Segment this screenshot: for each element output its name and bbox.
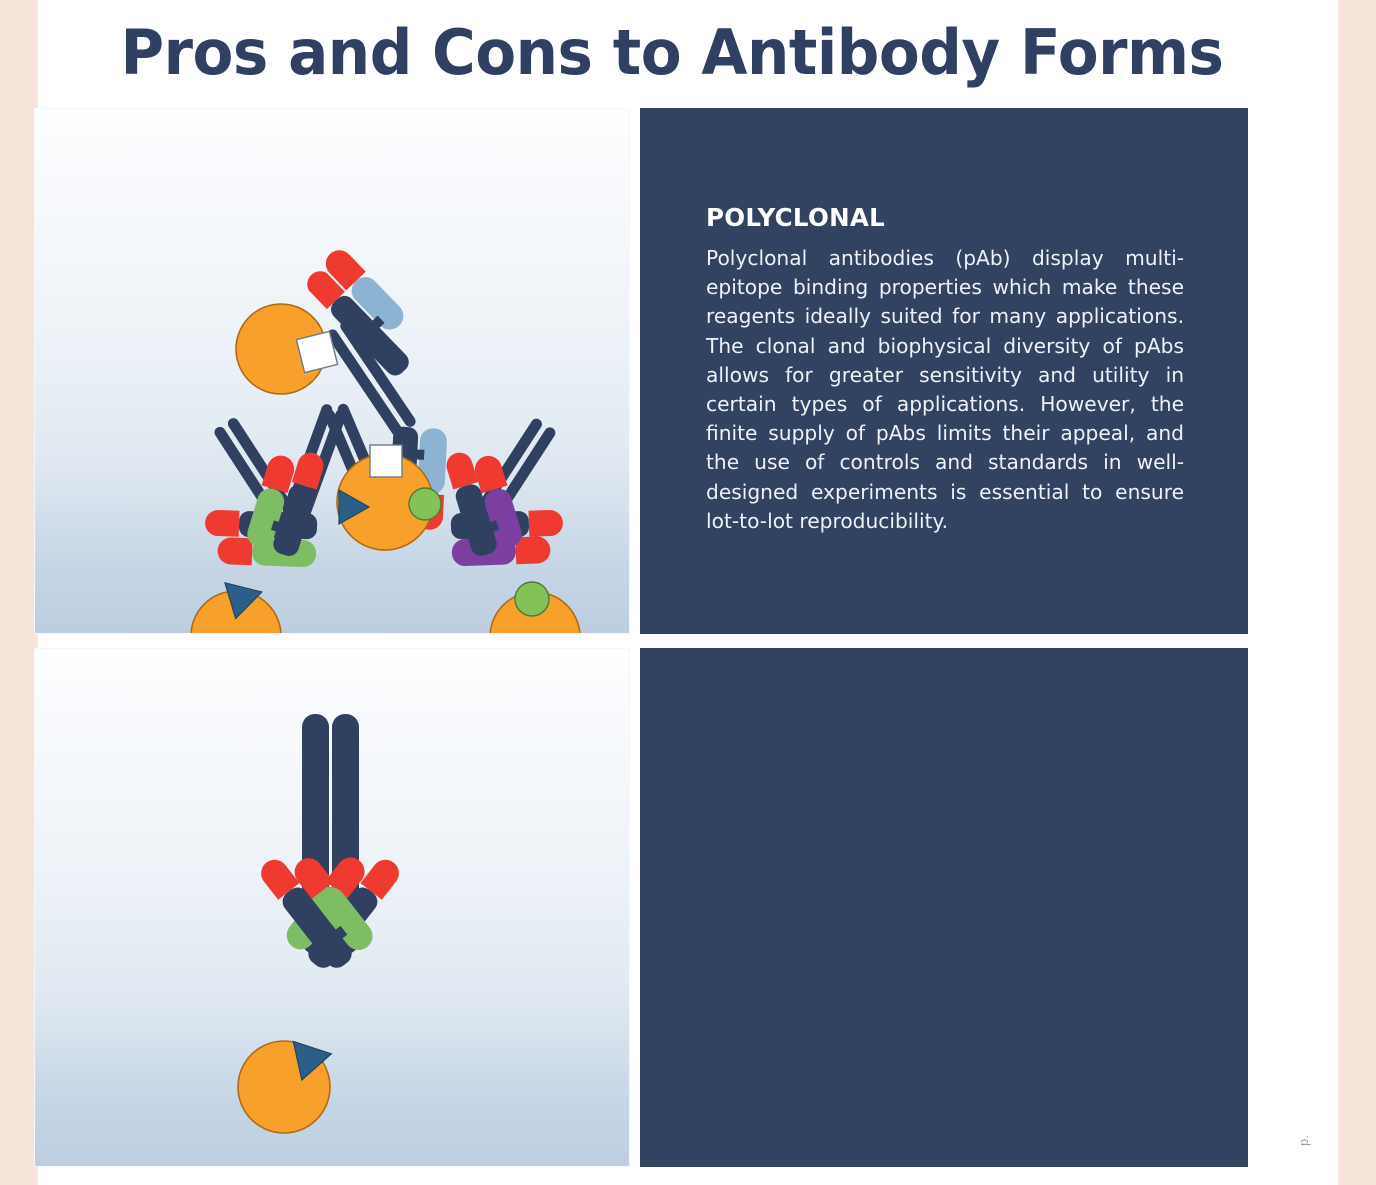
epitope-green-circle xyxy=(515,582,549,616)
polyclonal-heading: POLYCLONAL xyxy=(706,203,1184,232)
monoclonal-antibody-diagram xyxy=(35,649,629,1166)
page-canvas: Pros and Cons to Antibody Forms xyxy=(0,0,1376,1185)
monoclonal-text-panel: HYBRIDOMA MONOCLONAL Hybridoma based mon… xyxy=(640,648,1248,1167)
polyclonal-body: Polyclonal antibodies (pAb) display mult… xyxy=(706,244,1184,536)
monoclonal-figure-panel xyxy=(34,648,630,1167)
corner-note: p. xyxy=(1296,1135,1311,1146)
polyclonal-antibody-diagram xyxy=(35,109,629,633)
epitope-green-circle xyxy=(409,488,441,520)
polyclonal-figure-panel xyxy=(34,108,630,634)
page-title: Pros and Cons to Antibody Forms xyxy=(77,12,1267,92)
polyclonal-text-panel: POLYCLONAL Polyclonal antibodies (pAb) d… xyxy=(640,108,1248,634)
epitope-white-square xyxy=(296,331,337,372)
epitope-white-square xyxy=(370,445,402,477)
